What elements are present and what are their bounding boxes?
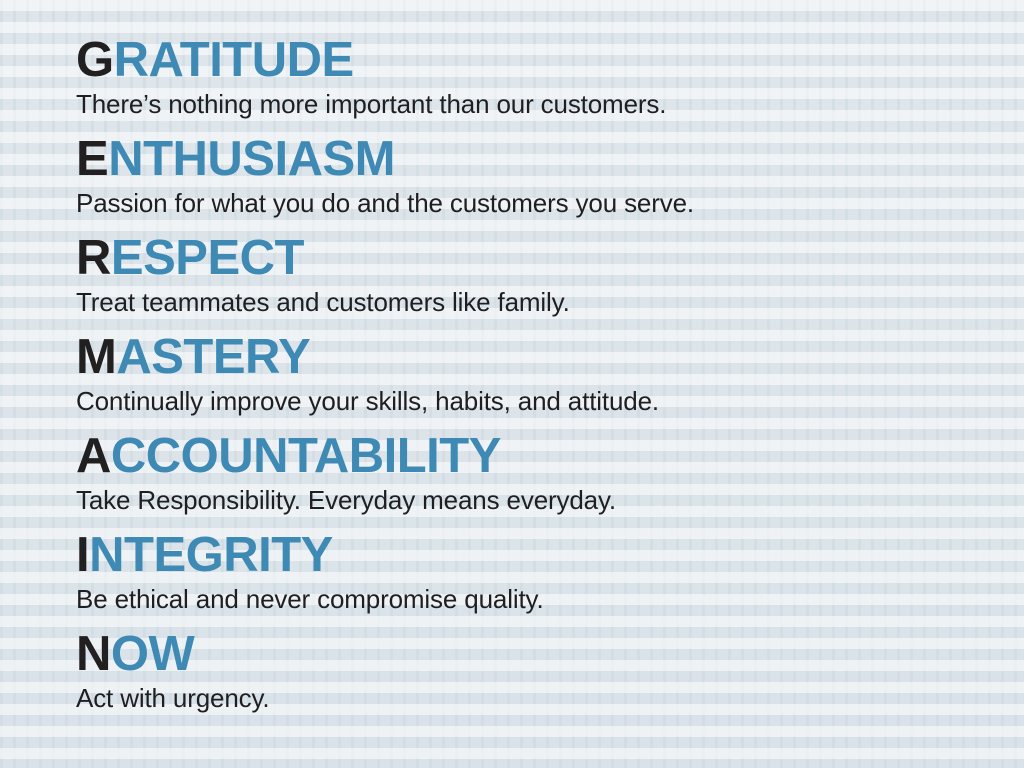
value-description-enthusiasm: Passion for what you do and the customer… <box>76 186 1004 220</box>
value-initial-letter: N <box>76 627 111 681</box>
value-heading-remainder: CCOUNTABILITY <box>111 429 501 483</box>
core-values-list: GRATITUDE There’s nothing more important… <box>76 33 1004 726</box>
value-description-mastery: Continually improve your skills, habits,… <box>76 384 1004 418</box>
value-initial-letter: G <box>76 33 114 87</box>
value-heading-remainder: NTHUSIASM <box>108 132 395 186</box>
value-heading-remainder: RATITUDE <box>114 33 354 87</box>
value-heading-gratitude: GRATITUDE <box>76 33 1004 87</box>
value-heading-remainder: ASTERY <box>116 330 310 384</box>
value-initial-letter: E <box>76 132 108 186</box>
value-heading-now: NOW <box>76 627 1004 681</box>
value-item-gratitude: GRATITUDE There’s nothing more important… <box>76 33 1004 121</box>
value-heading-enthusiasm: ENTHUSIASM <box>76 132 1004 186</box>
value-heading-respect: RESPECT <box>76 231 1004 285</box>
value-item-mastery: MASTERY Continually improve your skills,… <box>76 330 1004 418</box>
value-initial-letter: I <box>76 528 89 582</box>
value-heading-remainder: ESPECT <box>111 231 304 285</box>
value-heading-remainder: OW <box>111 627 194 681</box>
value-item-now: NOW Act with urgency. <box>76 627 1004 715</box>
value-initial-letter: A <box>76 429 111 483</box>
value-description-accountability: Take Responsibility. Everyday means ever… <box>76 483 1004 517</box>
value-description-gratitude: There’s nothing more important than our … <box>76 87 1004 121</box>
value-heading-mastery: MASTERY <box>76 330 1004 384</box>
value-item-respect: RESPECT Treat teammates and customers li… <box>76 231 1004 319</box>
value-item-accountability: ACCOUNTABILITY Take Responsibility. Ever… <box>76 429 1004 517</box>
value-description-now: Act with urgency. <box>76 681 1004 715</box>
poster-canvas: GRATITUDE There’s nothing more important… <box>0 0 1024 768</box>
value-description-integrity: Be ethical and never compromise quality. <box>76 582 1004 616</box>
value-description-respect: Treat teammates and customers like famil… <box>76 285 1004 319</box>
value-initial-letter: R <box>76 231 111 285</box>
value-heading-remainder: NTEGRITY <box>89 528 333 582</box>
value-item-integrity: INTEGRITY Be ethical and never compromis… <box>76 528 1004 616</box>
value-item-enthusiasm: ENTHUSIASM Passion for what you do and t… <box>76 132 1004 220</box>
value-heading-accountability: ACCOUNTABILITY <box>76 429 1004 483</box>
value-initial-letter: M <box>76 330 116 384</box>
value-heading-integrity: INTEGRITY <box>76 528 1004 582</box>
